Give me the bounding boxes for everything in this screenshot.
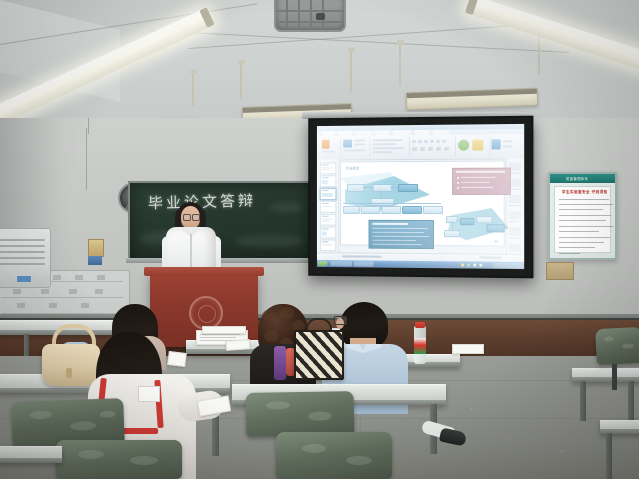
handbag-clasp [66,368,72,378]
projector-cage [274,0,346,32]
bag-charm [274,346,286,380]
slide-text-panel [369,220,434,249]
projector-lens [316,13,325,20]
podium-emblem [189,296,223,330]
poster-header: 质量管理体系 [550,174,615,183]
chair-frame [612,364,617,390]
ppt-ribbon[interactable] [317,134,524,161]
ceiling-seam [150,30,569,53]
slide-thumbnail[interactable] [320,227,336,239]
wall-wood-plate [546,262,574,280]
slide-thumbnail[interactable] [320,239,336,251]
desk-leg [24,334,29,356]
slide-thumbnail-selected[interactable] [320,188,336,200]
tray-icon[interactable] [473,264,476,267]
chair-foreground-right[interactable] [276,432,392,479]
chalk-tray [126,258,322,263]
classroom-scene: 毕业论文答辩 [0,0,639,479]
light-hanger [399,42,401,86]
light-hanger [192,72,194,106]
bottle-cap [415,322,425,328]
poster-title: 学生实验室安全 守则须知 [562,190,608,195]
chair-center[interactable] [246,391,355,437]
ac-badge [17,276,31,282]
wall-crack [88,118,89,134]
zoom-slider[interactable] [479,257,501,259]
slide-thumbnail[interactable] [320,201,336,213]
light-hanger [240,62,242,100]
desk-leg [580,381,586,421]
wall-poster: 质量管理体系 学生实验室安全 守则须知 [548,172,617,260]
tray-icon[interactable] [461,263,464,266]
slide-thumbnail[interactable] [320,175,336,187]
ppt-slide-thumbnail-pane[interactable] [317,159,339,253]
attendee-4-glasses [334,316,347,325]
desk-foreground-left [0,446,62,463]
poster-sheet: 学生实验室安全 守则须知 [554,186,611,253]
desk-right-front [600,420,639,434]
projection-screen: 作品概述 [308,116,533,279]
ppt-slide-canvas[interactable]: 作品概述 [340,161,505,247]
blackboard: 毕业论文答辩 [128,181,324,263]
paper-sheet [452,344,484,354]
wall-switch-box[interactable] [88,256,102,265]
slide-number [495,240,498,242]
start-button[interactable] [318,261,328,266]
wall-crack [86,128,87,190]
taskbar-item[interactable] [354,261,374,266]
podium-top-surface [144,267,264,276]
poster-header-text: 质量管理体系 [566,176,588,181]
taskbar-item[interactable] [330,261,351,266]
paper-sheet [226,339,251,351]
paper-stack [202,326,246,334]
task-pane-item[interactable] [509,227,521,235]
chair-right-rear[interactable] [595,327,639,365]
slide-title: 作品概述 [346,166,359,170]
striped-handbag[interactable] [294,330,344,380]
slide-thumbnail[interactable] [320,162,336,174]
desk-right-rear [572,368,639,382]
slide-highlight-panel [452,168,511,195]
chair-foreground[interactable] [56,440,182,479]
tray-icon[interactable] [479,264,482,267]
windows-taskbar[interactable] [317,260,524,269]
presenter-glasses [183,214,198,219]
light-hanger [350,50,352,92]
bottle-label [414,338,426,354]
wall-junction-box [88,239,104,257]
paper-sheet [167,351,187,367]
task-pane-item[interactable] [509,211,521,219]
system-tray[interactable] [493,263,524,268]
desk-leg [628,381,634,421]
desk-leg [606,433,612,479]
wall-crack [534,130,535,278]
tan-handbag[interactable] [42,344,100,386]
student-1-badge [138,386,160,402]
task-pane-item[interactable] [509,244,521,252]
task-pane-item[interactable] [509,195,521,203]
slide-thumbnail[interactable] [320,214,336,226]
tray-icon[interactable] [467,263,470,266]
air-conditioner [0,228,51,288]
